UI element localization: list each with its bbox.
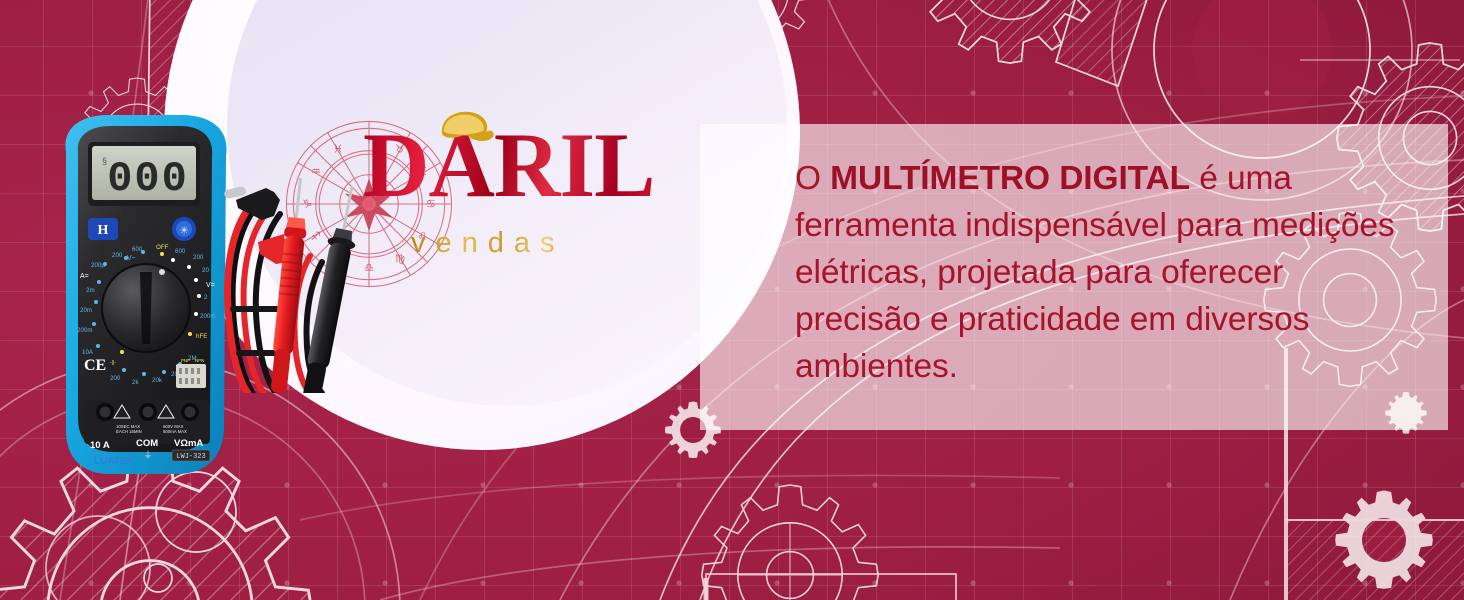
svg-text:20: 20 xyxy=(202,267,209,274)
svg-text:20m: 20m xyxy=(80,307,92,314)
svg-text:V~: V~ xyxy=(127,255,136,262)
svg-text:200: 200 xyxy=(112,252,123,259)
product-model-label: LWJ-323 xyxy=(176,453,205,461)
svg-text:OFF: OFF xyxy=(156,244,169,251)
svg-text:10A: 10A xyxy=(82,349,94,356)
brand-logo-tagline: vendas xyxy=(411,227,565,260)
promo-lead: O xyxy=(795,160,830,197)
promo-highlight: MULTÍMETRO DIGITAL xyxy=(830,160,1190,197)
svg-text:200m: 200m xyxy=(77,327,92,334)
promo-text: O MULTÍMETRO DIGITAL é uma ferramenta in… xyxy=(795,155,1395,390)
svg-text:NPN: NPN xyxy=(195,358,204,363)
svg-text:V=: V= xyxy=(206,282,215,289)
multimeter-device-image: 000 § H ☀ 200 600 V~ OFF 600 200 20 V= 2… xyxy=(44,112,244,482)
svg-text:A=: A= xyxy=(80,273,89,280)
port-10a-label: 10 A xyxy=(90,440,110,451)
svg-text:§: § xyxy=(102,156,107,166)
logo-hat-icon xyxy=(436,108,496,144)
brand-logo-wordmark: DARIL xyxy=(363,119,654,211)
svg-text:2k: 2k xyxy=(132,379,139,386)
svg-text:PNP: PNP xyxy=(181,358,190,363)
multimeter-lcd-value: 000 xyxy=(107,155,189,203)
port-com-label: COM xyxy=(136,438,158,449)
svg-text:200m: 200m xyxy=(200,313,215,320)
svg-text:☀: ☀ xyxy=(179,225,189,237)
port-vohm-label: VΩmA xyxy=(174,438,203,449)
multimeter-hold-label: H xyxy=(98,223,109,238)
svg-text:2: 2 xyxy=(204,294,208,301)
product-brand-label: LUATEK xyxy=(94,456,135,467)
svg-text:600: 600 xyxy=(175,248,186,255)
promo-banner: ♈♉♊ ♋♌♍ ♎♏♐ ♑♒♓ DARIL vendas xyxy=(0,0,1464,600)
warning-left-line2: EACH 15MIN xyxy=(116,429,142,434)
svg-text:200: 200 xyxy=(193,254,204,261)
svg-text:200: 200 xyxy=(110,375,121,382)
warning-right-line2: 500mA MAX xyxy=(163,429,187,434)
test-probes-image xyxy=(222,178,402,393)
ce-mark-label: CE xyxy=(84,357,106,374)
svg-text:-||-: -||- xyxy=(110,360,116,366)
svg-text:⏚: ⏚ xyxy=(143,450,152,460)
svg-text:2m: 2m xyxy=(86,287,95,294)
svg-text:20k: 20k xyxy=(152,377,163,384)
svg-text:hFE: hFE xyxy=(196,333,207,340)
svg-text:200µ: 200µ xyxy=(91,262,105,269)
